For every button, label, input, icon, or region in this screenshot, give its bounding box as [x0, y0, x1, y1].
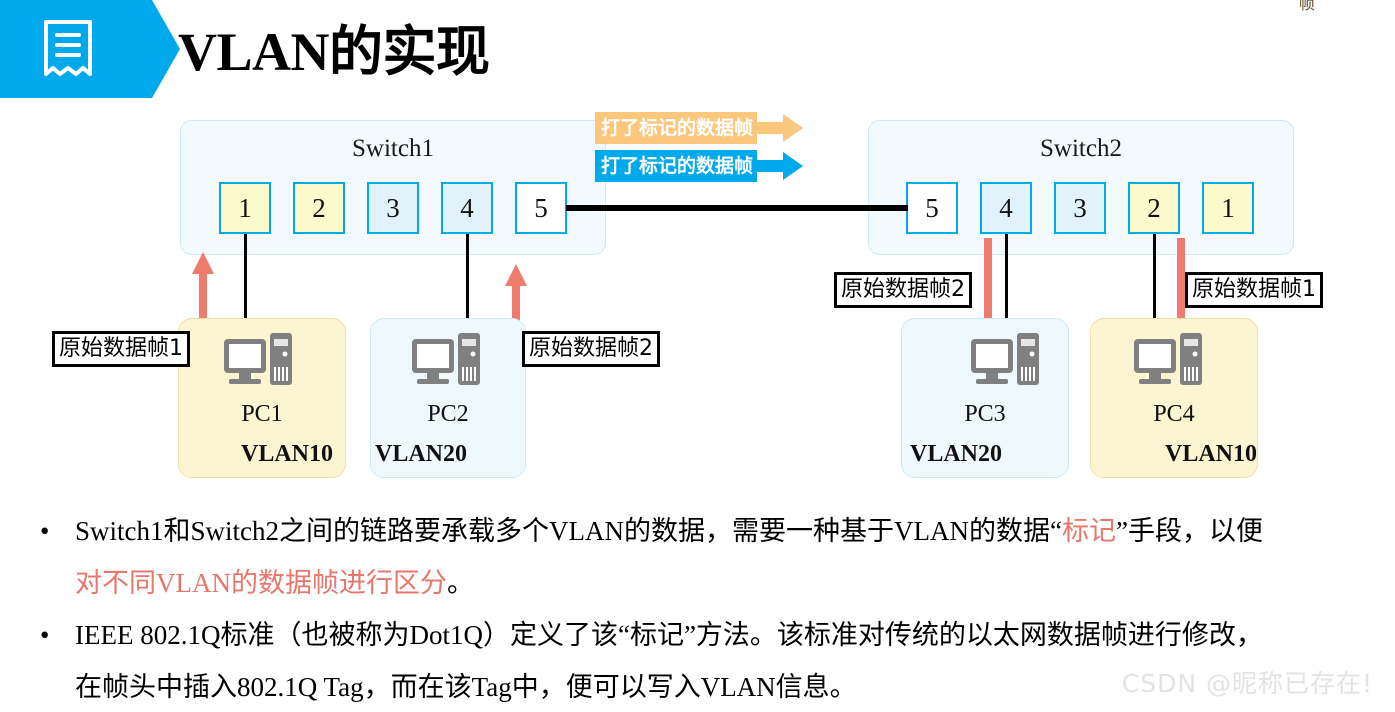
port-number: 2 [1147, 193, 1161, 224]
port-number: 1 [238, 193, 252, 224]
pc3-vlan-label: VLAN20 [902, 441, 1076, 468]
bullet-marker: • [40, 505, 49, 557]
port-number: 5 [925, 193, 939, 224]
tagged-frame-label-orange: 打了标记的数据帧 [595, 112, 757, 144]
callout-pc4: 原始数据帧1 [1185, 272, 1323, 308]
pc2-vlan-label: VLAN20 [371, 441, 529, 468]
switch1-port-4[interactable]: 4 [441, 182, 493, 234]
callout-pc1: 原始数据帧1 [52, 331, 190, 367]
bullet-marker: • [40, 609, 49, 661]
switch1-port-3[interactable]: 3 [367, 182, 419, 234]
switch1-label: Switch1 [181, 135, 605, 163]
callout-pc2: 原始数据帧2 [522, 331, 660, 367]
pc2-label: PC2 [371, 401, 525, 428]
bullet-2-line-1: IEEE 802.1Q标准（也被称为Dot1Q）定义了该“标记”方法。该标准对传… [75, 609, 1395, 661]
port-number: 3 [1073, 193, 1087, 224]
pc1-vlan-label: VLAN10 [241, 441, 345, 468]
port-number: 4 [460, 193, 474, 224]
trunk-link [566, 205, 908, 211]
arrow-right-icon [757, 150, 803, 182]
bullet-1-line-2: 对不同VLAN的数据帧进行区分。 [75, 557, 1395, 609]
bullet-1-l2-seg-1: 对不同VLAN的数据帧进行区分 [75, 568, 447, 598]
bullet-1-line-1: Switch1和Switch2之间的链路要承载多个VLAN的数据，需要一种基于V… [75, 505, 1395, 557]
tagged-frame-legend-orange: 打了标记的数据帧 [595, 112, 803, 144]
bullet-1-l2-seg-2: 。 [447, 568, 474, 598]
switch2-port-2[interactable]: 2 [1128, 182, 1180, 234]
switch2-port-3[interactable]: 3 [1054, 182, 1106, 234]
desktop-computer-icon [970, 333, 1044, 395]
bullet-1-l1-seg-2: 标记 [1062, 516, 1116, 546]
switch1-port-2[interactable]: 2 [293, 182, 345, 234]
slide-page: VLAN的实现 帧 Switch1 1 2 3 4 5 Switch2 5 4 [0, 0, 1395, 712]
port-number: 4 [999, 193, 1013, 224]
vlan-group-pc3: PC3 VLAN20 [901, 318, 1069, 478]
port-number: 3 [386, 193, 400, 224]
arrow-right-icon [757, 112, 803, 144]
switch1-port-5[interactable]: 5 [515, 182, 567, 234]
bullet-1-l1-seg-1: Switch1和Switch2之间的链路要承载多个VLAN的数据，需要一种基于V… [75, 516, 1062, 546]
port-number: 1 [1221, 193, 1235, 224]
desktop-computer-icon [411, 333, 485, 395]
bullet-item-1: • Switch1和Switch2之间的链路要承载多个VLAN的数据，需要一种基… [0, 505, 1395, 609]
desktop-computer-icon [223, 333, 297, 395]
port-number: 2 [312, 193, 326, 224]
switch2-port-4[interactable]: 4 [980, 182, 1032, 234]
pc4-vlan-label: VLAN10 [1091, 441, 1269, 468]
vlan-group-pc4: PC4 VLAN10 [1090, 318, 1258, 478]
vlan-group-pc2: PC2 VLAN20 [370, 318, 526, 478]
desktop-computer-icon [1133, 333, 1207, 395]
pc3-label: PC3 [902, 401, 1068, 428]
csdn-watermark: CSDN @昵称已存在! [1122, 664, 1373, 700]
pc1-label: PC1 [179, 401, 345, 428]
switch2-port-1[interactable]: 1 [1202, 182, 1254, 234]
tagged-frame-legend-blue: 打了标记的数据帧 [595, 150, 803, 182]
bullet-1-l1-seg-3: ”手段，以便 [1116, 516, 1263, 546]
callout-pc3: 原始数据帧2 [834, 272, 972, 308]
switch1-port-1[interactable]: 1 [219, 182, 271, 234]
port-number: 5 [534, 193, 548, 224]
switch2-label: Switch2 [869, 135, 1293, 163]
vlan-diagram: Switch1 1 2 3 4 5 Switch2 5 4 3 2 [0, 0, 1395, 500]
switch2-port-5[interactable]: 5 [906, 182, 958, 234]
pc4-label: PC4 [1091, 401, 1257, 428]
tagged-frame-label-blue: 打了标记的数据帧 [595, 150, 757, 182]
vlan-group-pc1: PC1 VLAN10 [178, 318, 346, 478]
